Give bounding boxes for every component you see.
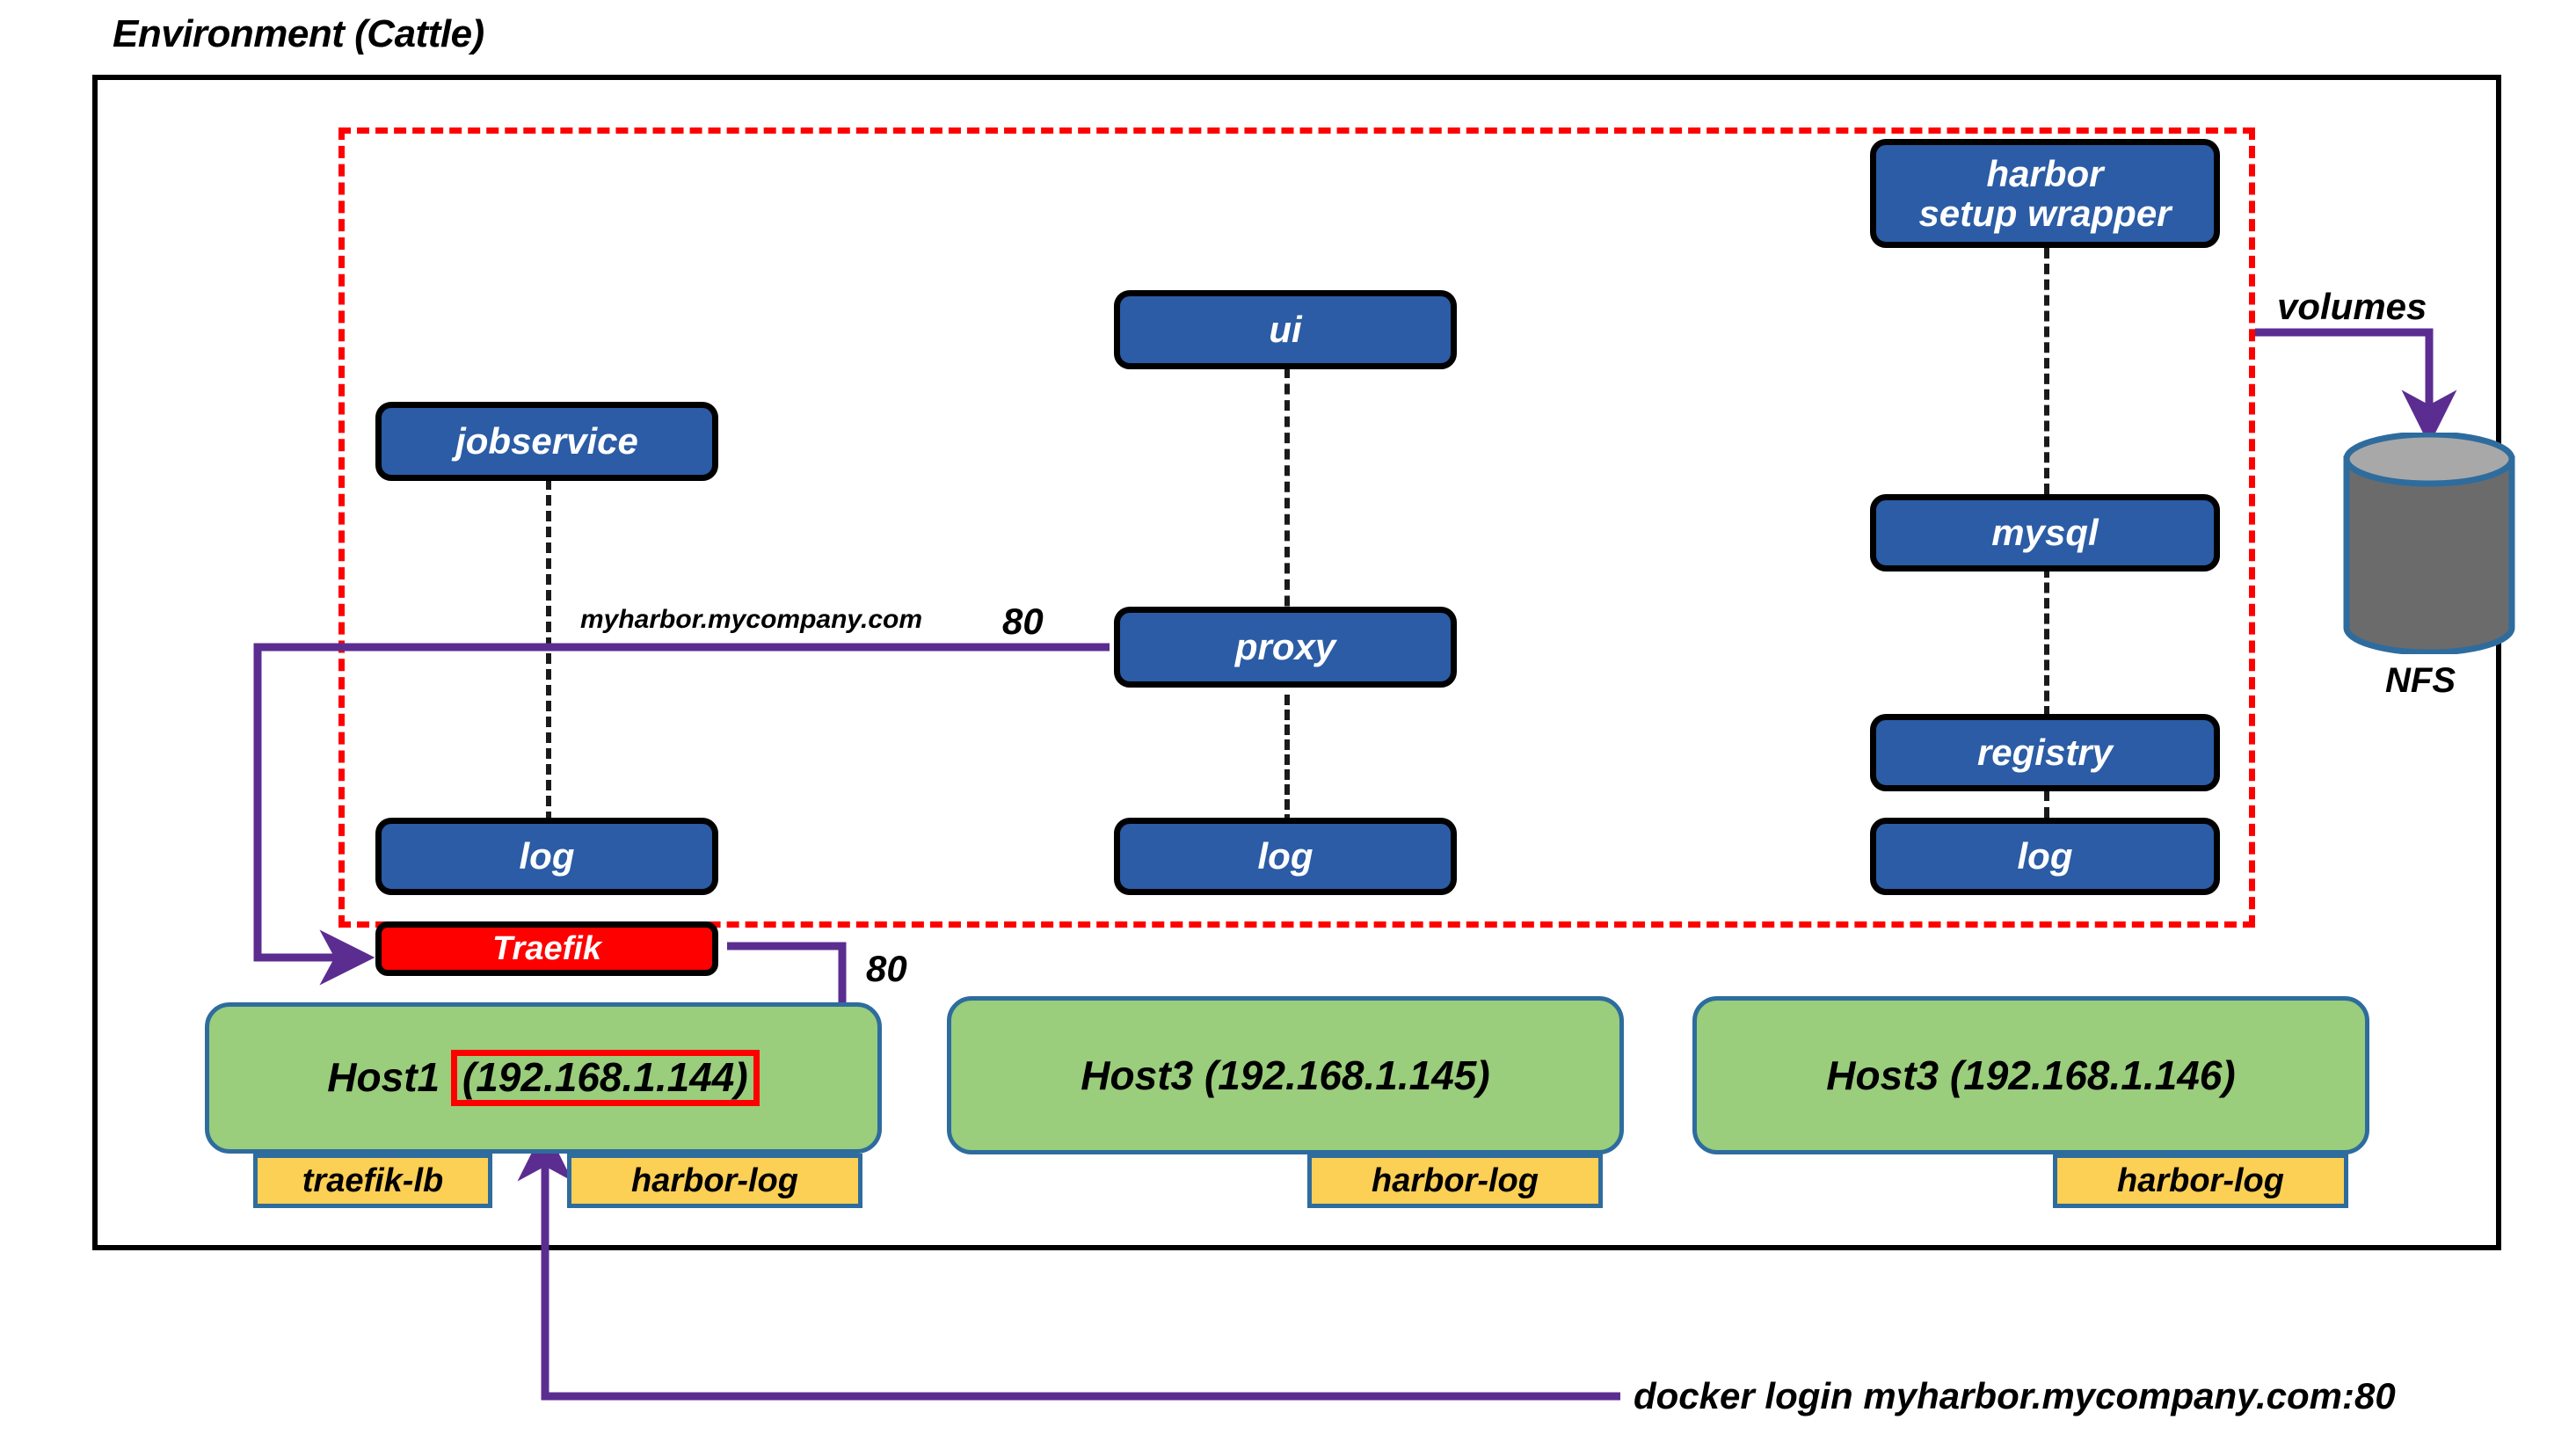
port-annotation-proxy: 80 bbox=[1002, 601, 1044, 643]
host-1-label: Host1 (192.168.1.144) bbox=[327, 1050, 759, 1107]
service-proxy[interactable]: proxy bbox=[1114, 607, 1457, 688]
service-log-right[interactable]: log bbox=[1870, 818, 2220, 895]
service-log-right-label: log bbox=[2018, 836, 2073, 876]
service-registry[interactable]: registry bbox=[1870, 714, 2220, 791]
host-2-tag-harbor-log[interactable]: harbor-log bbox=[1307, 1154, 1603, 1208]
service-log-left-label: log bbox=[520, 836, 575, 876]
service-registry-label: registry bbox=[1977, 732, 2113, 772]
host-1-name: Host1 bbox=[327, 1054, 451, 1100]
traefik-label: Traefik bbox=[492, 930, 601, 968]
service-proxy-label: proxy bbox=[1235, 627, 1335, 666]
connector-ui-proxy bbox=[1284, 368, 1290, 623]
service-mysql-label: mysql bbox=[1991, 513, 2098, 552]
host-3-tag-harbor-log-label: harbor-log bbox=[2117, 1162, 2284, 1200]
connector-mysql-registry bbox=[2044, 567, 2049, 717]
host-2-ip: (192.168.1.145) bbox=[1204, 1052, 1490, 1098]
architecture-diagram: Environment (Cattle) jobservice log ui bbox=[0, 0, 2576, 1449]
host-box-3[interactable]: Host3 (192.168.1.146) bbox=[1692, 996, 2369, 1154]
port-annotation-traefik: 80 bbox=[866, 948, 907, 990]
host-3-tag-harbor-log[interactable]: harbor-log bbox=[2053, 1154, 2348, 1208]
host-1-tag-traefik-lb-label: traefik-lb bbox=[302, 1162, 443, 1200]
host-2-tag-harbor-log-label: harbor-log bbox=[1372, 1162, 1539, 1200]
service-ui[interactable]: ui bbox=[1114, 290, 1457, 369]
host-box-2[interactable]: Host3 (192.168.1.145) bbox=[947, 996, 1624, 1154]
service-log-middle-label: log bbox=[1258, 836, 1313, 876]
service-harbor-setup-wrapper-label: harbor setup wrapper bbox=[1918, 154, 2171, 234]
service-jobservice[interactable]: jobservice bbox=[375, 402, 718, 481]
connector-proxy-log bbox=[1284, 695, 1290, 825]
host-2-name: Host3 bbox=[1081, 1052, 1204, 1098]
docker-login-command: docker login myharbor.mycompany.com:80 bbox=[1634, 1375, 2396, 1417]
host-box-1[interactable]: Host1 (192.168.1.144) bbox=[205, 1002, 882, 1154]
traefik-load-balancer[interactable]: Traefik bbox=[375, 921, 718, 976]
host-1-tag-harbor-log-label: harbor-log bbox=[631, 1162, 798, 1200]
host-1-tag-traefik-lb[interactable]: traefik-lb bbox=[253, 1154, 492, 1208]
nfs-storage-icon bbox=[2341, 433, 2517, 654]
host-2-label: Host3 (192.168.1.145) bbox=[1081, 1052, 1489, 1099]
host-3-label: Host3 (192.168.1.146) bbox=[1826, 1052, 2235, 1099]
environment-title: Environment (Cattle) bbox=[113, 12, 484, 56]
host-3-name: Host3 bbox=[1826, 1052, 1950, 1098]
service-harbor-setup-wrapper[interactable]: harbor setup wrapper bbox=[1870, 139, 2220, 248]
host-3-ip: (192.168.1.146) bbox=[1950, 1052, 2236, 1098]
connector-jobservice-log bbox=[546, 479, 551, 822]
service-log-left[interactable]: log bbox=[375, 818, 718, 895]
nfs-label: NFS bbox=[2385, 661, 2456, 701]
connector-wrapper-mysql bbox=[2044, 248, 2049, 494]
service-log-middle[interactable]: log bbox=[1114, 818, 1457, 895]
host-1-ip: (192.168.1.144) bbox=[451, 1050, 760, 1107]
service-mysql[interactable]: mysql bbox=[1870, 494, 2220, 572]
hostname-annotation: myharbor.mycompany.com bbox=[580, 605, 922, 635]
volumes-annotation: volumes bbox=[2277, 286, 2427, 328]
service-jobservice-label: jobservice bbox=[455, 421, 638, 461]
host-1-tag-harbor-log[interactable]: harbor-log bbox=[567, 1154, 862, 1208]
service-ui-label: ui bbox=[1269, 309, 1301, 349]
